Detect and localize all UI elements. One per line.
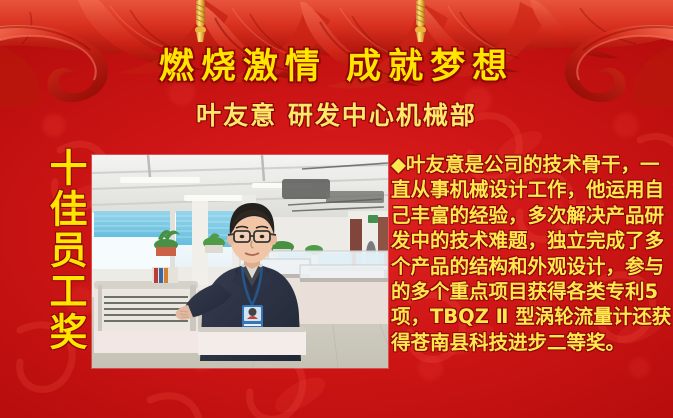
page-subtitle: 叶友意 研发中心机械部 <box>0 96 673 132</box>
employee-photo <box>92 155 388 368</box>
award-label: 十佳员工奖 <box>40 148 84 353</box>
office-photo-illustration <box>92 155 388 368</box>
poster-canvas: 燃烧激情 成就梦想 叶友意 研发中心机械部 十佳员工奖 <box>0 0 673 418</box>
page-title: 燃烧激情 成就梦想 <box>0 38 673 89</box>
employee-description: ◆叶友意是公司的技术骨干，一直从事机械设计工作，他运用自己丰富的经验，多次解决产… <box>391 152 673 355</box>
